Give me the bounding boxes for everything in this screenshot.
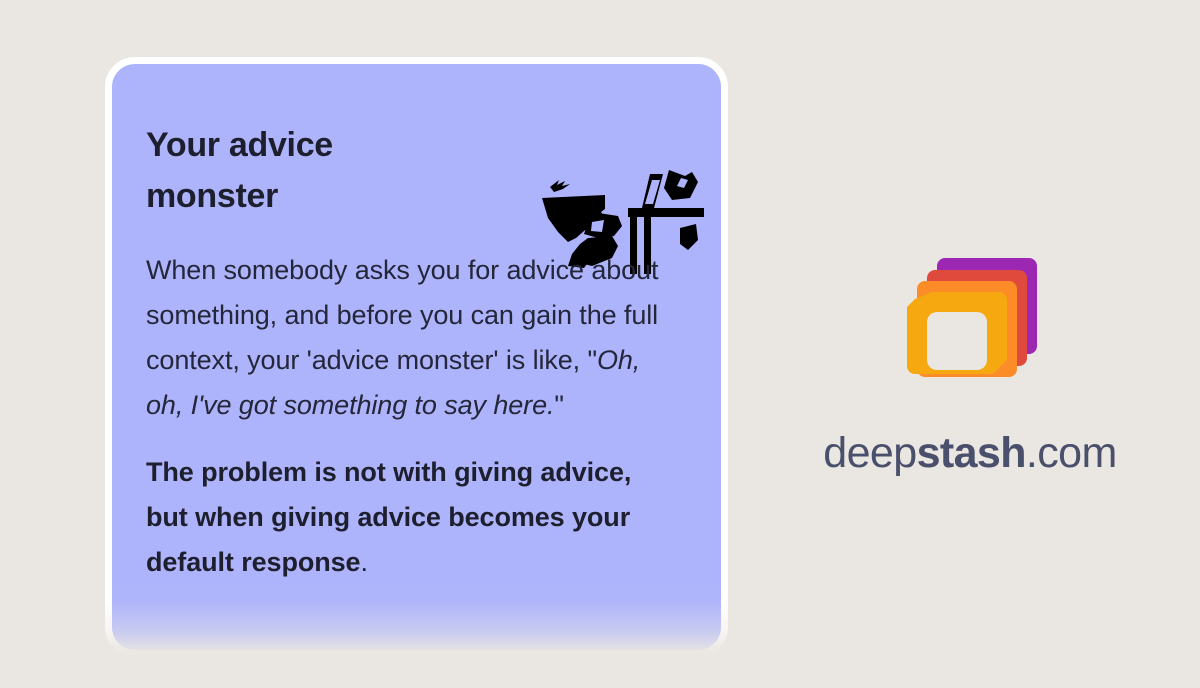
- card-emphasis-paragraph: The problem is not with giving advice, b…: [146, 450, 677, 585]
- card-body-quote-close: ": [554, 390, 564, 420]
- card-title: Your advice monster: [146, 120, 446, 222]
- advice-card-content: Your advice monster: [112, 64, 721, 650]
- poster-canvas: Your advice monster: [0, 0, 1200, 688]
- advice-card-surface: Your advice monster: [105, 57, 728, 657]
- advice-card[interactable]: Your advice monster: [105, 57, 728, 657]
- card-body-paragraph: When somebody asks you for advice about …: [146, 248, 677, 428]
- brand-word-tld: .com: [1026, 429, 1117, 477]
- brand-wordmark[interactable]: deepstash.com: [810, 432, 1130, 475]
- card-body-lead: When somebody asks you for advice about …: [146, 255, 658, 375]
- brand-word-light: deep: [823, 429, 916, 477]
- brand-block[interactable]: deepstash.com: [810, 250, 1130, 475]
- deepstash-logo-icon[interactable]: [897, 250, 1043, 396]
- brand-word-bold: stash: [917, 429, 1026, 477]
- card-emphasis-bold: The problem is not with giving advice, b…: [146, 457, 631, 577]
- card-emphasis-tail: .: [360, 547, 367, 577]
